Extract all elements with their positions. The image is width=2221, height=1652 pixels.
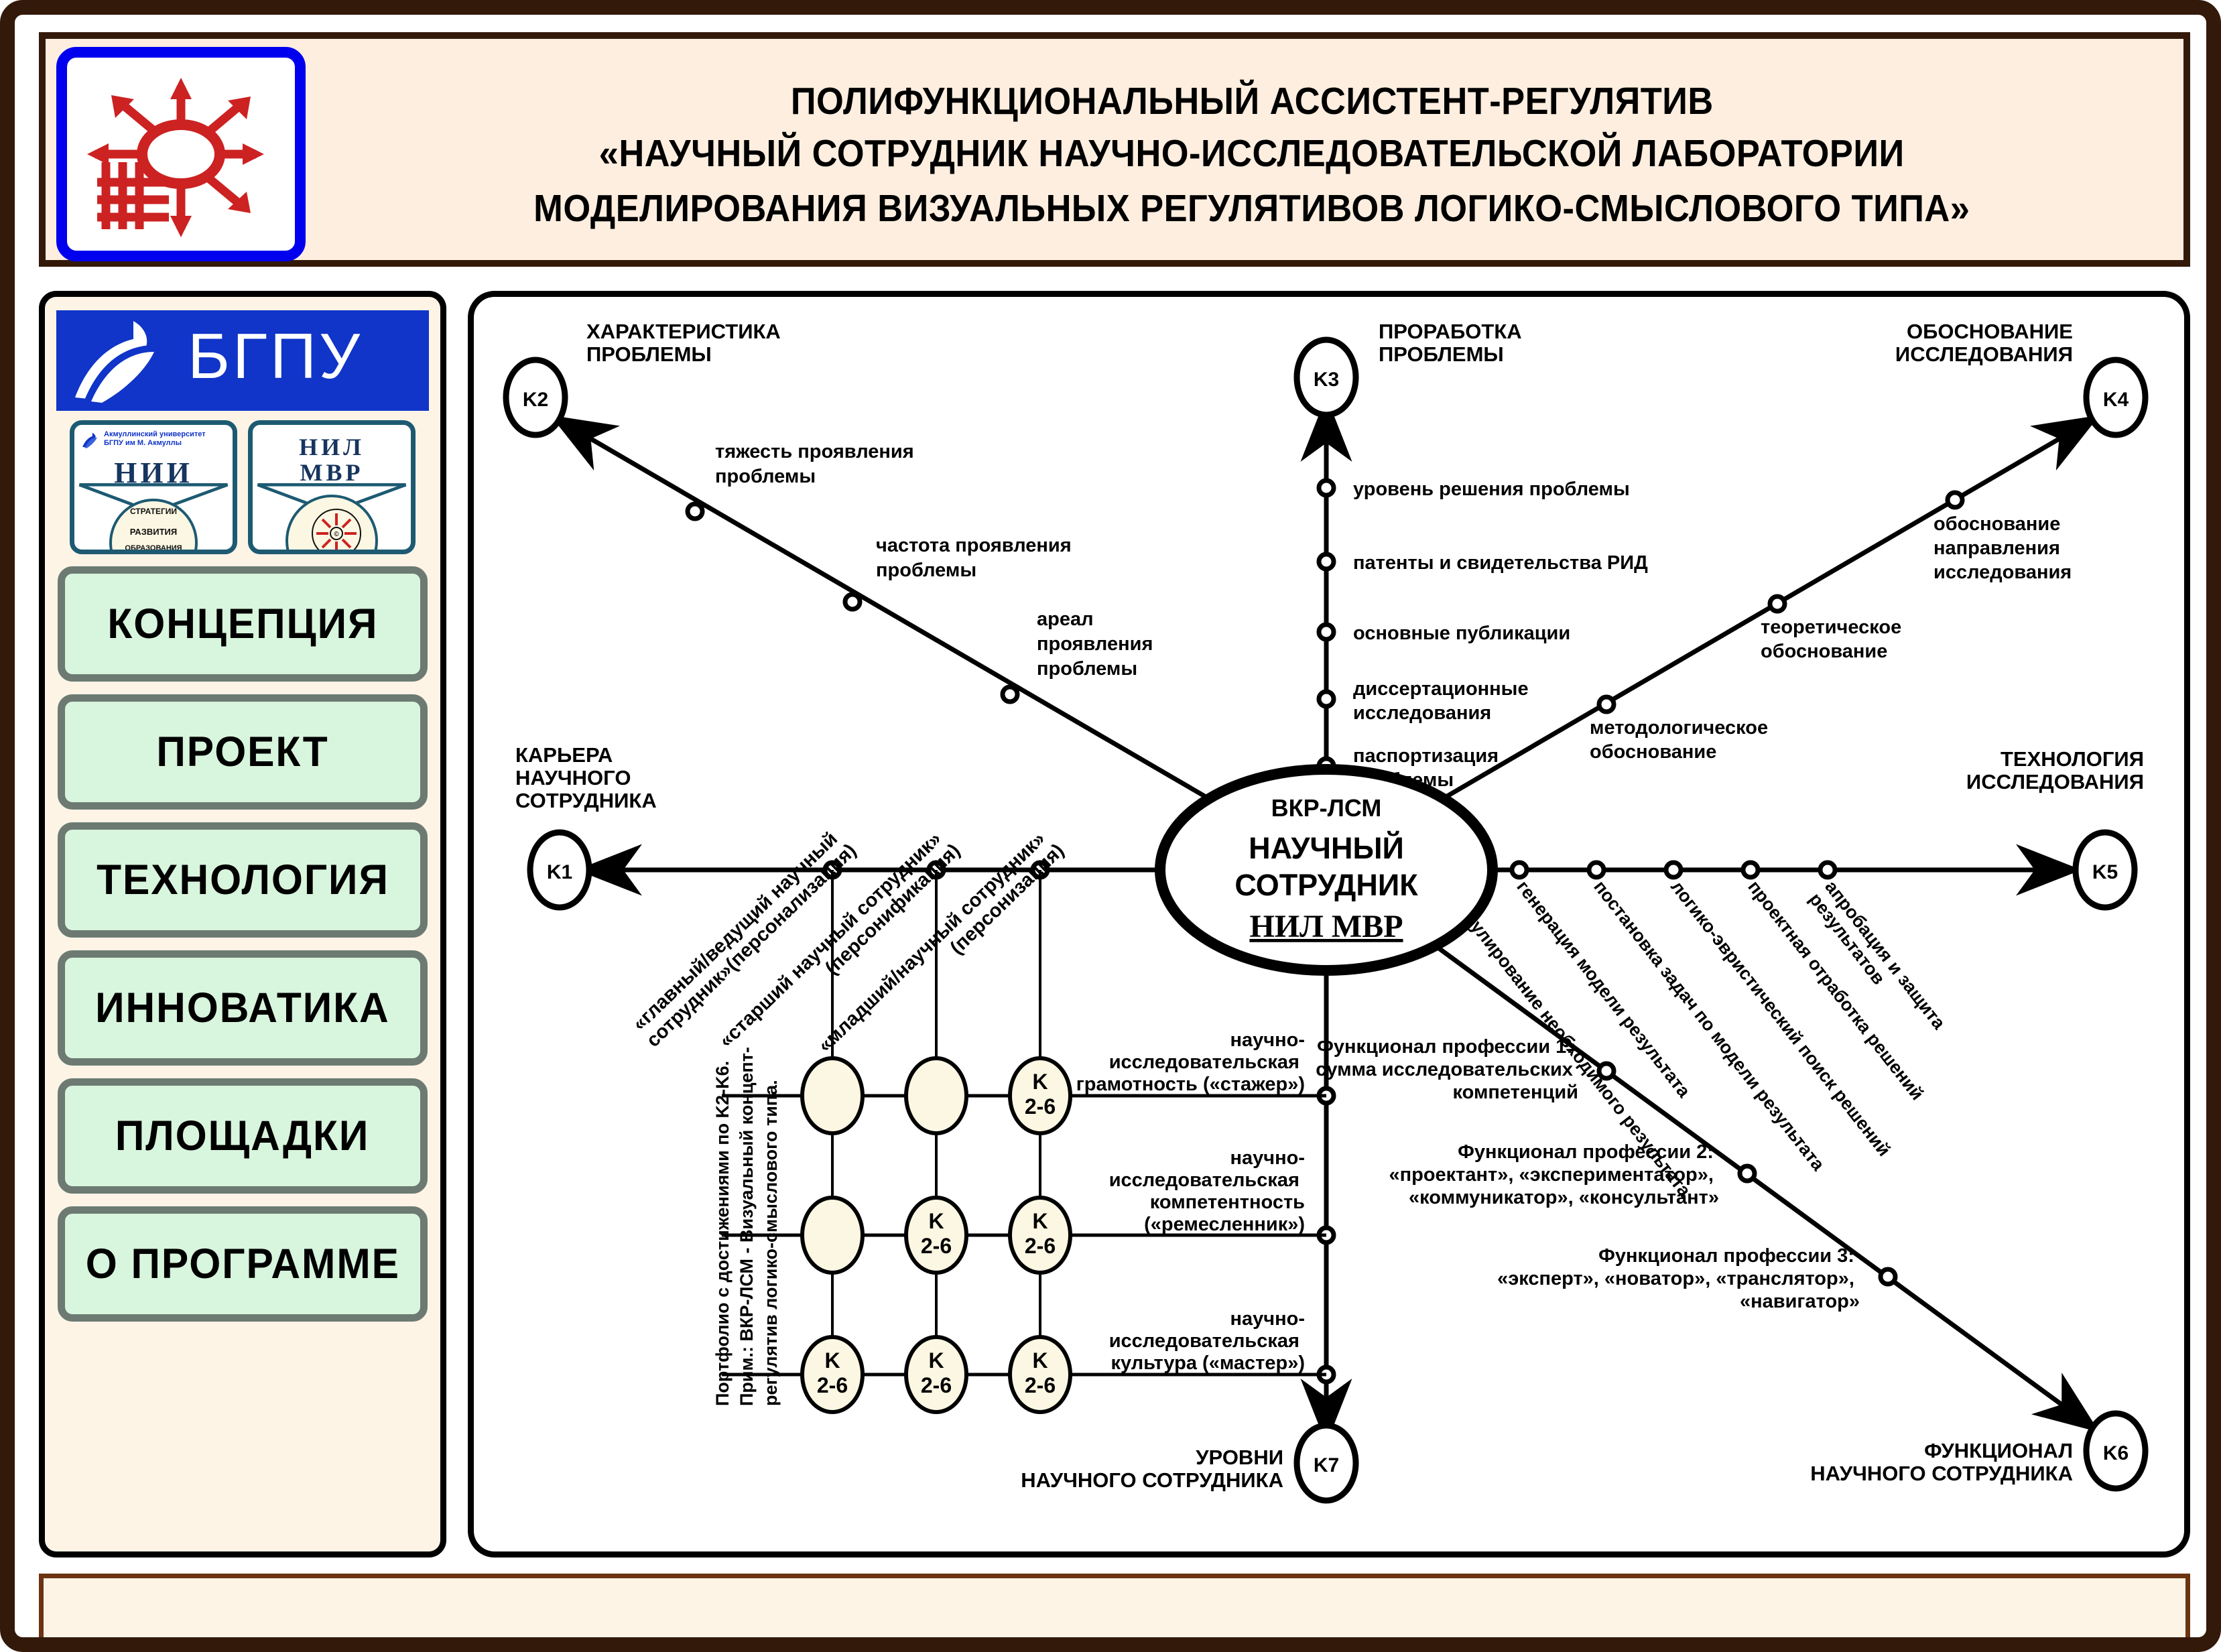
node-dot [1666,863,1681,877]
node-dot [1319,554,1334,569]
axis-labels-k4: обоснованиенаправленияисследования теоре… [1590,513,2072,763]
k2-node-label-3: ареалпроявленияпроблемы [1037,609,1153,680]
sidebar-item-label: ИННОВАТИКА [95,984,389,1032]
node-dot [1770,596,1785,611]
poster-root: ПОЛИФУНКЦИОНАЛЬНЫЙ АССИСТЕНТ-РЕГУЛЯТИВ «… [0,0,2221,1652]
sidebar-menu: КОНЦЕПЦИЯ ПРОЕКТ ТЕХНОЛОГИЯ ИННОВАТИКА П… [56,566,430,1322]
axis-title-k7: УРОВНИНАУЧНОГО СОТРУДНИКА [1021,1446,1283,1492]
sidebar-item-label: ПЛОЩАДКИ [115,1112,369,1160]
node-dot [1319,692,1334,706]
header-title-block: ПОЛИФУНКЦИОНАЛЬНЫЙ АССИСТЕНТ-РЕГУЛЯТИВ «… [320,43,2183,268]
axis-labels-k1: «младший/научный сотрудник» (персонизаци… [627,824,1068,1072]
matrix-cell-top: K [928,1348,944,1373]
matrix-cell-top: K [1032,1070,1048,1094]
axis-title-k4: ОБОСНОВАНИЕИССЛЕДОВАНИЯ [1895,320,2073,366]
matrix-cell-top: K [928,1209,944,1233]
center-line-3: СОТРУДНИК [1234,868,1418,902]
portfolio-note: Портфолио с достижениями по K2-K6. Прим.… [712,1047,781,1406]
k4-node-label-2: теоретическоеобоснование [1761,617,1901,662]
emblem-nii: Акмуллинский университет БГПУ им М. Акму… [70,420,237,554]
bgpu-logo: БГПУ [56,310,429,411]
center-line-4: НИЛ МВР [1249,909,1403,944]
k3-node-label-1: уровень решения проблемы [1353,479,1630,500]
k4-node-label-3: методологическоеобоснование [1590,717,1768,763]
emblems-row: Акмуллинский университет БГПУ им М. Акму… [56,420,430,554]
matrix-cell-empty [906,1058,966,1133]
emblem-nilmvr: НИЛ МВР © [248,420,416,554]
sidebar-item-label: ПРОЕКТ [156,728,328,776]
lsm-radial-diagram: «младший/научный сотрудник» (персонизаци… [474,297,2184,1551]
k6-node-label-1: Функционал профессии 1: сумма исследоват… [1316,1036,1578,1103]
axis-title-k3: ПРОРАБОТКАПРОБЛЕМЫ [1379,320,1522,366]
sidebar-item-label: КОНЦЕПЦИЯ [107,600,378,648]
node-dot [1948,493,1962,507]
header-line-1: ПОЛИФУНКЦИОНАЛЬНЫЙ АССИСТЕНТ-РЕГУЛЯТИВ [791,79,1714,124]
note-line-2: Прим.: ВКР-ЛСМ - Визуальный концепт- [737,1047,757,1406]
header-line-2: «НАУЧНЫЙ СОТРУДНИК НАУЧНО-ИССЛЕДОВАТЕЛЬС… [599,131,1905,178]
axis-title-k1: КАРЬЕРАНАУЧНОГОСОТРУДНИКА [515,743,657,812]
axis-badge-k3-label: K3 [1314,369,1339,391]
k3-node-label-2: патенты и свидетельства РИД [1353,552,1648,574]
axis-badge-k2-label: K2 [523,389,548,411]
node-dot [1599,1064,1614,1078]
k3-node-label-3: основные публикации [1353,623,1570,644]
matrix-cell-bottom: 2-6 [1025,1094,1056,1119]
axis-badge-k4-label: K4 [2103,389,2129,411]
note-line-3: регулятив логико-смыслового типа. [761,1080,781,1406]
sidebar-item-o-programme[interactable]: О ПРОГРАММЕ [58,1206,428,1322]
node-dot [1743,863,1758,877]
header-band: ПОЛИФУНКЦИОНАЛЬНЫЙ АССИСТЕНТ-РЕГУЛЯТИВ «… [39,32,2190,267]
node-dot [1740,1166,1755,1181]
node-dot [688,504,702,519]
lsm-logo-box [56,47,306,261]
emblem-nilmvr-radial-icon: © [293,495,380,554]
lsm-radial-icon [67,58,295,251]
sidebar-item-koncepciya[interactable]: КОНЦЕПЦИЯ [58,566,428,682]
node-dot [1003,687,1017,702]
node-dot [1512,863,1527,877]
k2-node-label-2: частота проявленияпроблемы [876,535,1072,581]
sidebar-item-innovatika[interactable]: ИННОВАТИКА [58,950,428,1066]
axis-line-k2 [554,418,1268,833]
axis-title-k2: ХАРАКТЕРИСТИКАПРОБЛЕМЫ [586,320,781,366]
emblem-nii-seal-line3: ОБРАЗОВАНИЯ [74,544,233,552]
note-line-1: Портфолио с достижениями по K2-K6. [712,1061,733,1406]
k5-node-label-6: апробация и защитарезультатов [1805,877,1950,1045]
matrix-cell-empty [802,1198,863,1273]
axis-nodes-k2 [688,504,1017,702]
emblem-copyright-mark: © [334,531,339,538]
axis-title-k5: ТЕХНОЛОГИЯИССЛЕДОВАНИЯ [1966,747,2144,793]
matrix-cell-empty [802,1058,863,1133]
k7-node-label-2: научно-исследовательская компетентность(… [1109,1147,1305,1235]
matrix-cell-top: K [1032,1348,1048,1373]
axis-badge-k7-label: K7 [1314,1454,1339,1476]
center-line-1: ВКР-ЛСМ [1271,794,1382,822]
k7-node-label-3: научно-исследовательская культура («маст… [1109,1308,1305,1374]
k2-node-label-1: тяжесть проявленияпроблемы [715,441,914,487]
emblem-nii-seal-line1: СТРАТЕГИИ [74,507,233,516]
k6-node-label-2: Функционал профессии 2: «проектант», «эк… [1389,1141,1719,1208]
matrix-cell-bottom: 2-6 [1025,1234,1056,1258]
k6-node-label-3: Функционал профессии 3: «эксперт», «нова… [1497,1245,1860,1312]
sidebar-item-tehnologiya[interactable]: ТЕХНОЛОГИЯ [58,822,428,938]
k7-node-label-1: научно-исследовательская грамотность («с… [1076,1029,1305,1095]
matrix-cell-top: K [1032,1209,1048,1233]
matrix-cell-top: K [824,1348,840,1373]
sidebar-item-label: О ПРОГРАММЕ [85,1240,399,1288]
sidebar-item-proekt[interactable]: ПРОЕКТ [58,694,428,810]
matrix-cells: K 2-6 K 2-6 K 2-6 K 2-6 K 2-6 K 2-6 [802,1058,1070,1412]
matrix-cell-bottom: 2-6 [817,1373,848,1397]
node-dot [1881,1269,1895,1284]
emblem-nii-seal-line2: РАЗВИТИЯ [74,527,233,537]
sidebar-item-ploshadki[interactable]: ПЛОЩАДКИ [58,1078,428,1194]
bgpu-wordmark: БГПУ [188,320,363,393]
axis-badge-k5-label: K5 [2092,861,2118,883]
bgpu-wave-icon [70,317,177,404]
lsm-diagram-panel: «младший/научный сотрудник» (персонизаци… [468,291,2190,1558]
k4-node-label-1: обоснованиенаправленияисследования [1933,513,2072,583]
node-dot [1820,863,1835,877]
node-dot [1589,863,1604,877]
node-dot [1319,481,1334,495]
bottom-strip [39,1574,2190,1643]
matrix-cell-bottom: 2-6 [1025,1373,1056,1397]
axis-labels-k2: тяжесть проявленияпроблемы частота прояв… [715,441,1153,680]
k3-node-label-4: диссертационныеисследования [1353,678,1529,724]
header-line-3: МОДЕЛИРОВАНИЯ ВИЗУАЛЬНЫХ РЕГУЛЯТИВОВ ЛОГ… [533,186,1970,233]
axis-badge-k6-label: K6 [2103,1442,2129,1464]
node-dot [1599,697,1614,712]
node-dot [1319,625,1334,639]
axis-title-k6: ФУНКЦИОНАЛНАУЧНОГО СОТРУДНИКА [1810,1439,2073,1485]
sidebar: БГПУ Акмуллинский университет БГПУ им М.… [39,291,446,1558]
axis-badge-k1-label: K1 [547,861,572,883]
axis-labels-k7: научно-исследовательская грамотность («с… [1076,1029,1305,1374]
center-line-2: НАУЧНЫЙ [1249,831,1404,865]
matrix-cell-bottom: 2-6 [921,1373,952,1397]
node-dot [845,594,860,609]
matrix-cell-bottom: 2-6 [921,1234,952,1258]
sidebar-item-label: ТЕХНОЛОГИЯ [97,856,389,904]
